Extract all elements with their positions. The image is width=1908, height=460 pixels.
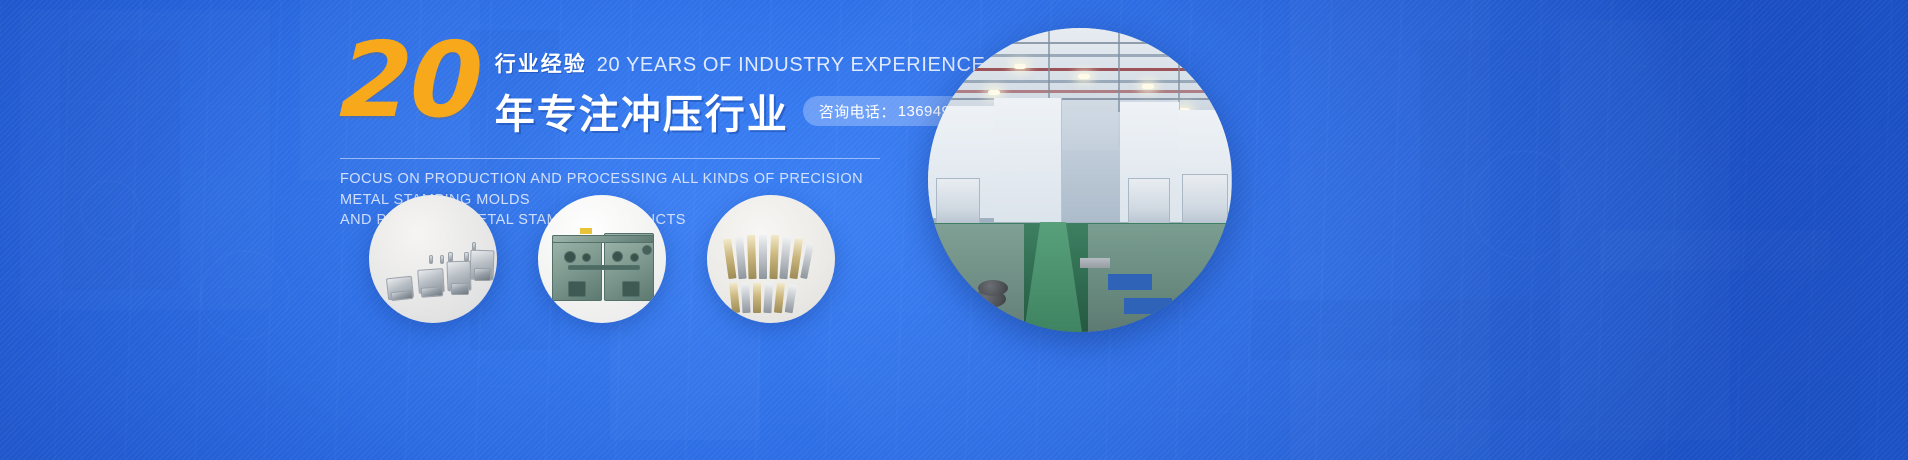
product-circle-stamping-mold[interactable]: Green-grey precision progressive stampin… (538, 195, 666, 323)
phone-badge-label: 咨询电话： (819, 101, 896, 122)
product-circle-terminal-pins[interactable]: Brass and steel stamped terminal pins (707, 195, 835, 323)
headline-divider (340, 158, 880, 159)
product-circle-connectors[interactable]: Precision stamped metal USB connector sh… (369, 195, 497, 323)
promo-banner: 20 行业经验 20 YEARS OF INDUSTRY EXPERIENCE … (0, 0, 1908, 460)
headline-cn-small: 行业经验 (495, 48, 587, 78)
headline-row: 20 行业经验 20 YEARS OF INDUSTRY EXPERIENCE … (340, 38, 960, 140)
years-number: 20 (339, 38, 483, 123)
factory-workshop-photo[interactable]: Factory workshop interior with green ais… (928, 28, 1232, 332)
headline-cn-large: 年专注冲压行业 (495, 82, 789, 140)
